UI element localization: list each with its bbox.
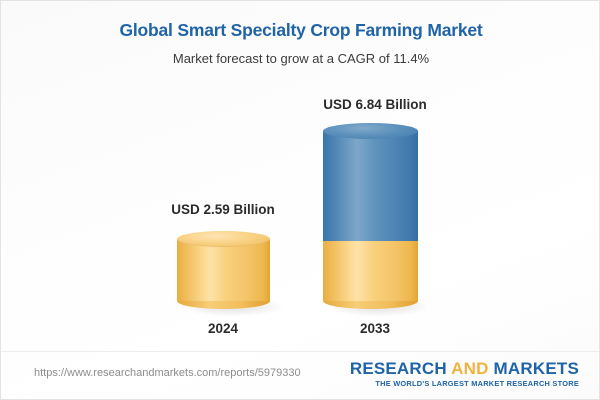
chart-poster: Global Smart Specialty Crop Farming Mark… xyxy=(0,0,600,400)
chart-plot-area: USD 2.59 Billion 2024 USD 6.84 Billion xyxy=(1,1,600,349)
bar-top-cap-2033 xyxy=(323,123,418,139)
logo-tagline: THE WORLD'S LARGEST MARKET RESEARCH STOR… xyxy=(350,379,579,389)
bar-segment-2033-growth xyxy=(323,123,418,241)
logo-word-research: RESEARCH xyxy=(350,359,447,378)
report-url-link[interactable]: https://www.researchandmarkets.com/repor… xyxy=(34,367,301,379)
logo-word-markets: MARKETS xyxy=(494,359,579,378)
logo-word-and: AND xyxy=(451,359,488,378)
bar-body-2033-base xyxy=(323,239,418,301)
logo-wordmark: RESEARCH AND MARKETS xyxy=(350,359,579,378)
bar-top-cap-2024 xyxy=(177,231,270,247)
bar-value-label-2033: USD 6.84 Billion xyxy=(285,97,465,112)
footer: https://www.researchandmarkets.com/repor… xyxy=(1,352,600,399)
bar-body-2033-growth xyxy=(323,131,418,241)
bar-segment-2033-base xyxy=(323,239,418,309)
bar-body-2024 xyxy=(177,239,270,301)
bar-value-label-2024: USD 2.59 Billion xyxy=(133,202,313,217)
bar-category-label-2033: 2033 xyxy=(285,321,465,336)
research-and-markets-logo[interactable]: RESEARCH AND MARKETS THE WORLD'S LARGEST… xyxy=(350,359,579,389)
bar-segment-2024-base xyxy=(177,231,270,309)
